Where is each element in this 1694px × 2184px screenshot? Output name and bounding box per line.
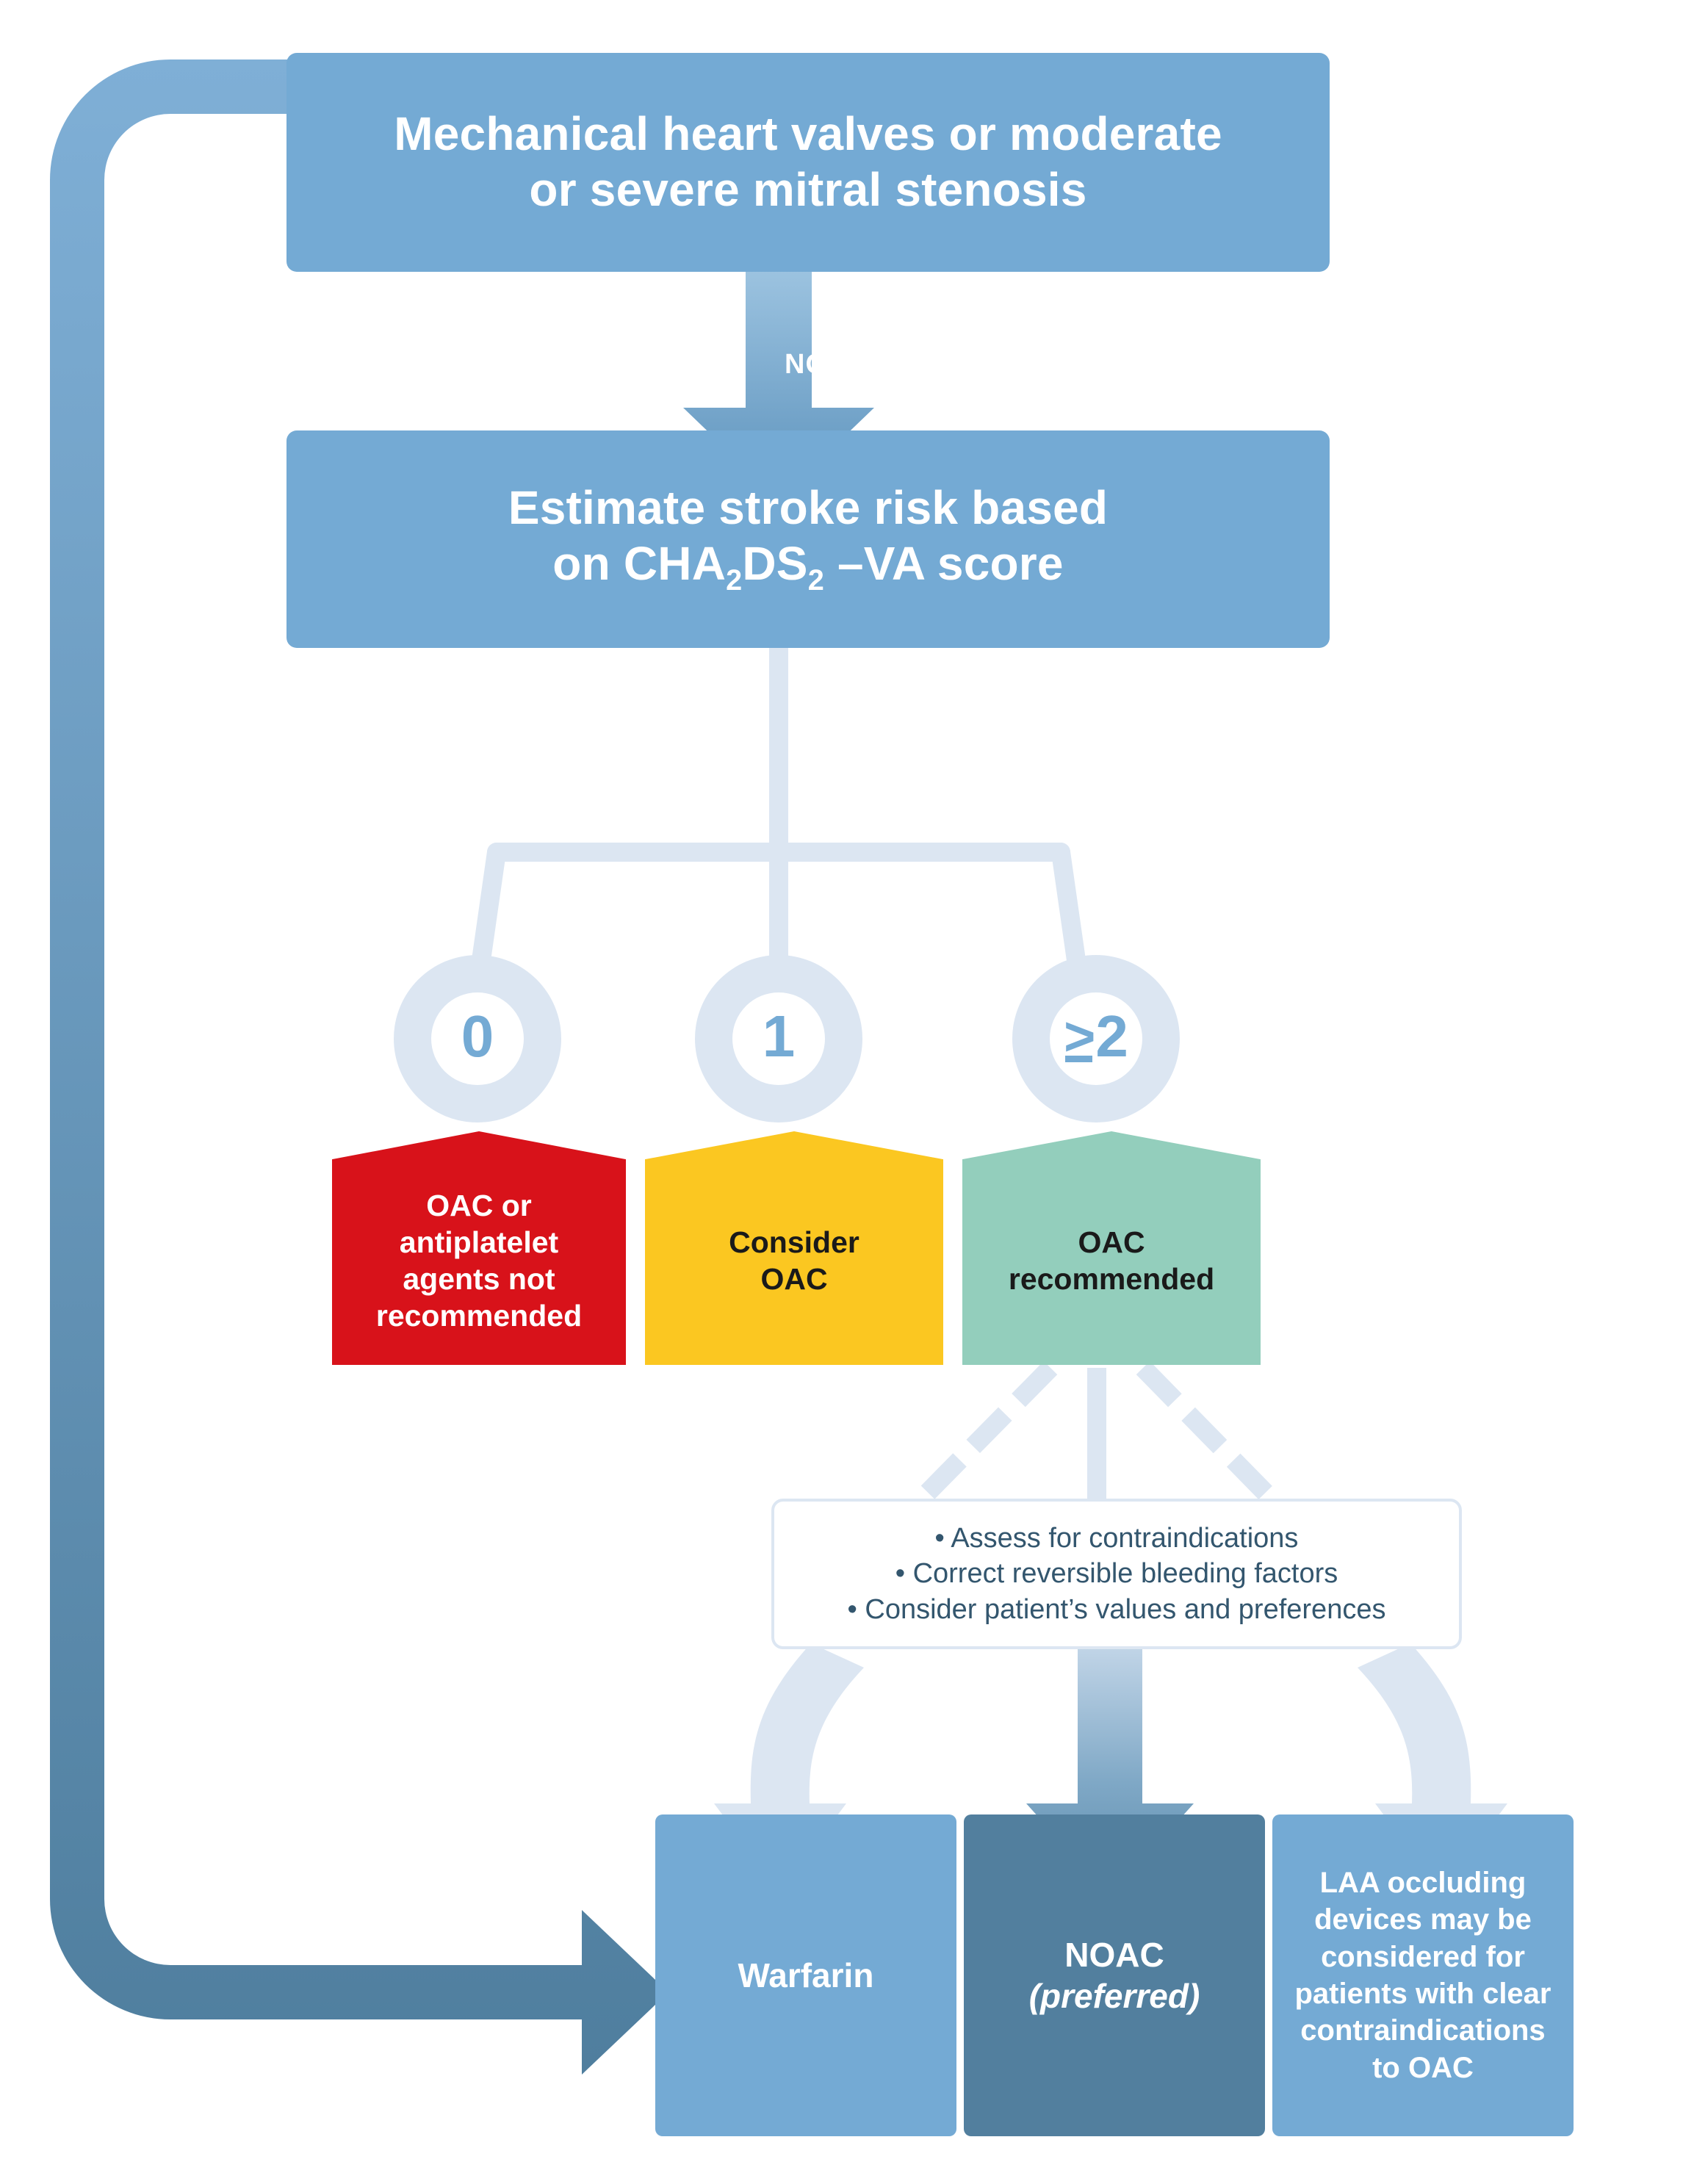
estimate-risk-box[interactable]: Estimate stroke risk based on CHA2DS2 –V… <box>286 430 1330 648</box>
top-question-line2: or severe mitral stenosis <box>394 162 1222 218</box>
score-branch-connector <box>475 648 1083 1006</box>
score-circle-ge2-value: >2 <box>1064 1007 1128 1066</box>
consideration-text-3: Consider patient’s values and preference… <box>865 1594 1385 1625</box>
treatment-laa-line-5: contraindications <box>1295 2012 1551 2049</box>
consideration-item-1: • Assess for contraindications <box>935 1521 1299 1556</box>
estimate-mid: DS <box>742 537 807 590</box>
treatment-laa-line-1: LAA occluding <box>1295 1864 1551 1901</box>
outcome-box-score-0[interactable]: OAC or antiplatelet agents not recommend… <box>332 1131 626 1365</box>
score-circle-0[interactable]: 0 <box>394 955 561 1122</box>
estimate-prefix: on CHA <box>552 537 726 590</box>
outcome-0-line-4: recommended <box>376 1297 582 1334</box>
consideration-text-1: Assess for contraindications <box>951 1523 1298 1554</box>
score-circle-1-inner: 1 <box>732 992 825 1085</box>
treatment-laa-line-2: devices may be <box>1295 1901 1551 1938</box>
estimate-suffix: –VA score <box>824 537 1064 590</box>
score-circle-1[interactable]: 1 <box>695 955 862 1122</box>
score-circle-0-value: 0 <box>461 1007 494 1066</box>
treatment-warfarin-label: Warfarin <box>738 1955 874 1996</box>
bullet-icon-2: • <box>895 1558 905 1589</box>
treatment-noac-label: NOAC <box>1029 1934 1200 1975</box>
outcome-1-line-2: OAC <box>729 1261 859 1297</box>
greater-equal-icon: > <box>1064 1009 1095 1064</box>
outcome-2-line-2: recommended <box>1009 1261 1214 1297</box>
treatment-box-laa[interactable]: LAA occluding devices may be considered … <box>1272 1814 1574 2136</box>
estimate-sub2: 2 <box>808 564 824 597</box>
consideration-item-3: • Consider patient’s values and preferen… <box>848 1592 1386 1627</box>
estimate-line2: on CHA2DS2 –VA score <box>508 536 1108 598</box>
score-circle-ge2-number: 2 <box>1095 1007 1128 1066</box>
treatment-laa-line-4: patients with clear <box>1295 1975 1551 2012</box>
treatment-box-noac[interactable]: NOAC (preferred) <box>964 1814 1265 2136</box>
top-question-line1: Mechanical heart valves or moderate <box>394 107 1222 162</box>
estimate-line1: Estimate stroke risk based <box>508 480 1108 536</box>
score-circle-ge2-inner: >2 <box>1050 992 1142 1085</box>
consideration-item-2: • Correct reversible bleeding factors <box>895 1556 1338 1591</box>
score-circle-0-inner: 0 <box>431 992 524 1085</box>
outcome-0-line-1: OAC or <box>376 1187 582 1224</box>
outcome-2-line-1: OAC <box>1009 1224 1214 1261</box>
top-question-box[interactable]: Mechanical heart valves or moderate or s… <box>286 53 1330 272</box>
outcome-0-line-3: agents not <box>376 1261 582 1297</box>
consideration-text-2: Correct reversible bleeding factors <box>913 1558 1338 1589</box>
treatment-laa-line-3: considered for <box>1295 1939 1551 1975</box>
outcome-1-line-1: Consider <box>729 1224 859 1261</box>
yes-label: YES <box>190 141 248 173</box>
flowchart-canvas: Mechanical heart valves or moderate or s… <box>0 0 1694 2184</box>
estimate-sub1: 2 <box>726 564 742 597</box>
score-circle-ge2[interactable]: >2 <box>1012 955 1180 1122</box>
oac-dashed-connectors <box>907 1368 1286 1517</box>
considerations-box[interactable]: • Assess for contraindications • Correct… <box>771 1499 1462 1649</box>
bullet-icon-3: • <box>848 1594 857 1625</box>
outcome-box-score-ge2[interactable]: OAC recommended <box>962 1131 1261 1365</box>
treatment-laa-line-6: to OAC <box>1295 2050 1551 2086</box>
no-label: NO <box>785 349 828 381</box>
bullet-icon-1: • <box>935 1523 945 1554</box>
treatment-noac-sublabel: (preferred) <box>1029 1975 1200 2017</box>
outcome-0-line-2: antiplatelet <box>376 1224 582 1261</box>
score-circle-1-value: 1 <box>763 1007 796 1066</box>
treatment-box-warfarin[interactable]: Warfarin <box>655 1814 956 2136</box>
yes-path-arrow <box>50 60 668 2075</box>
outcome-box-score-1[interactable]: Consider OAC <box>645 1131 943 1365</box>
